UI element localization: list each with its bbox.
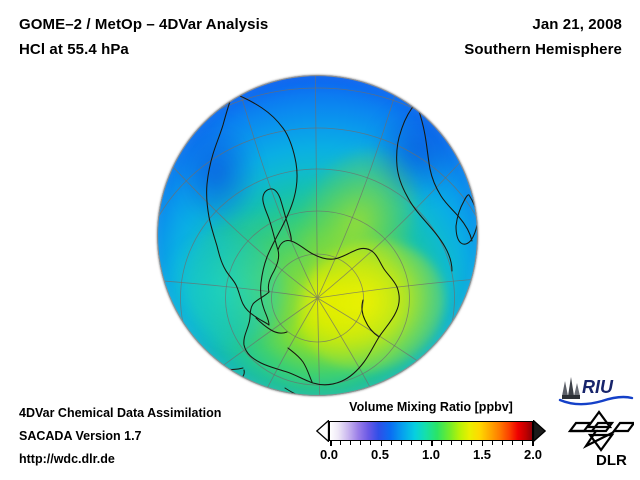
riu-towers-icon	[562, 377, 580, 399]
page-title: GOME–2 / MetOp – 4DVar Analysis	[19, 12, 268, 37]
colorbar-minor-tick	[421, 440, 422, 445]
colorbar-minor-tick	[451, 440, 452, 445]
credit-line-1: 4DVar Chemical Data Assimilation	[19, 402, 221, 425]
colorbar-gradient	[329, 421, 533, 441]
dlr-mark-icon	[570, 412, 634, 450]
colorbar-row	[316, 420, 546, 442]
coastline-africa-west	[397, 103, 452, 271]
colorbar-under-range-cap	[316, 420, 329, 442]
colorbar-minor-tick	[441, 440, 442, 445]
colorbar-major-tick	[482, 440, 484, 446]
coastline-antarctica-inlet-b	[362, 300, 379, 337]
globe-disc	[157, 75, 478, 396]
header-left: GOME–2 / MetOp – 4DVar Analysis HCl at 5…	[19, 12, 268, 62]
colorbar-minor-tick	[471, 440, 472, 445]
colorbar-minor-tick	[461, 440, 462, 445]
colorbar-minor-tick	[391, 440, 392, 445]
colorbar-minor-tick	[340, 440, 341, 445]
colorbar-minor-tick	[370, 440, 371, 445]
coastlines	[201, 93, 477, 396]
colorbar-title: Volume Mixing Ratio [ppbv]	[316, 400, 546, 414]
colorbar-minor-tick	[502, 440, 503, 445]
colorbar-minor-tick	[512, 440, 513, 445]
graticule-meridians	[157, 75, 478, 396]
colorbar-minor-tick	[522, 440, 523, 445]
map-overlay	[157, 75, 478, 396]
colorbar-major-tick	[431, 440, 433, 446]
colorbar-minor-tick	[360, 440, 361, 445]
region-label: Southern Hemisphere	[464, 37, 622, 62]
dlr-wordmark: DLR	[596, 452, 627, 468]
colorbar-minor-tick	[411, 440, 412, 445]
dlr-logo: DLR	[566, 410, 634, 468]
header-right: Jan 21, 2008 Southern Hemisphere	[464, 12, 622, 62]
colorbar-tick-labels: 0.00.51.01.52.0	[316, 447, 546, 465]
colorbar-minor-tick	[401, 440, 402, 445]
riu-logo: RIU	[556, 374, 634, 406]
colorbar-major-tick	[330, 440, 332, 446]
colorbar-major-tick	[532, 440, 534, 446]
coastline-antarctica-inlet-a	[288, 348, 312, 382]
date-label: Jan 21, 2008	[464, 12, 622, 37]
colorbar-tick-label: 1.0	[422, 447, 440, 462]
colorbar-tick-label: 0.0	[320, 447, 338, 462]
credit-url: http://wdc.dlr.de	[19, 448, 221, 471]
credit-line-2: SACADA Version 1.7	[19, 425, 221, 448]
riu-wordmark: RIU	[582, 377, 614, 397]
colorbar-tick-label: 0.5	[371, 447, 389, 462]
globe-map	[157, 75, 478, 396]
page-subtitle: HCl at 55.4 hPa	[19, 37, 268, 62]
colorbar-ticks	[330, 440, 532, 446]
colorbar-tick-label: 2.0	[524, 447, 542, 462]
colorbar-minor-tick	[350, 440, 351, 445]
colorbar-tick-label: 1.5	[473, 447, 491, 462]
footer-credits: 4DVar Chemical Data Assimilation SACADA …	[19, 402, 221, 471]
colorbar-major-tick	[381, 440, 383, 446]
colorbar: Volume Mixing Ratio [ppbv] 0.00.51.01.52…	[316, 400, 546, 465]
coastline-tasmania	[225, 370, 244, 379]
globe-outline	[158, 76, 478, 396]
colorbar-minor-tick	[492, 440, 493, 445]
colorbar-over-range-cap	[533, 420, 546, 442]
coastline-antarctica	[244, 240, 399, 384]
figure-canvas: GOME–2 / MetOp – 4DVar Analysis HCl at 5…	[0, 0, 640, 480]
